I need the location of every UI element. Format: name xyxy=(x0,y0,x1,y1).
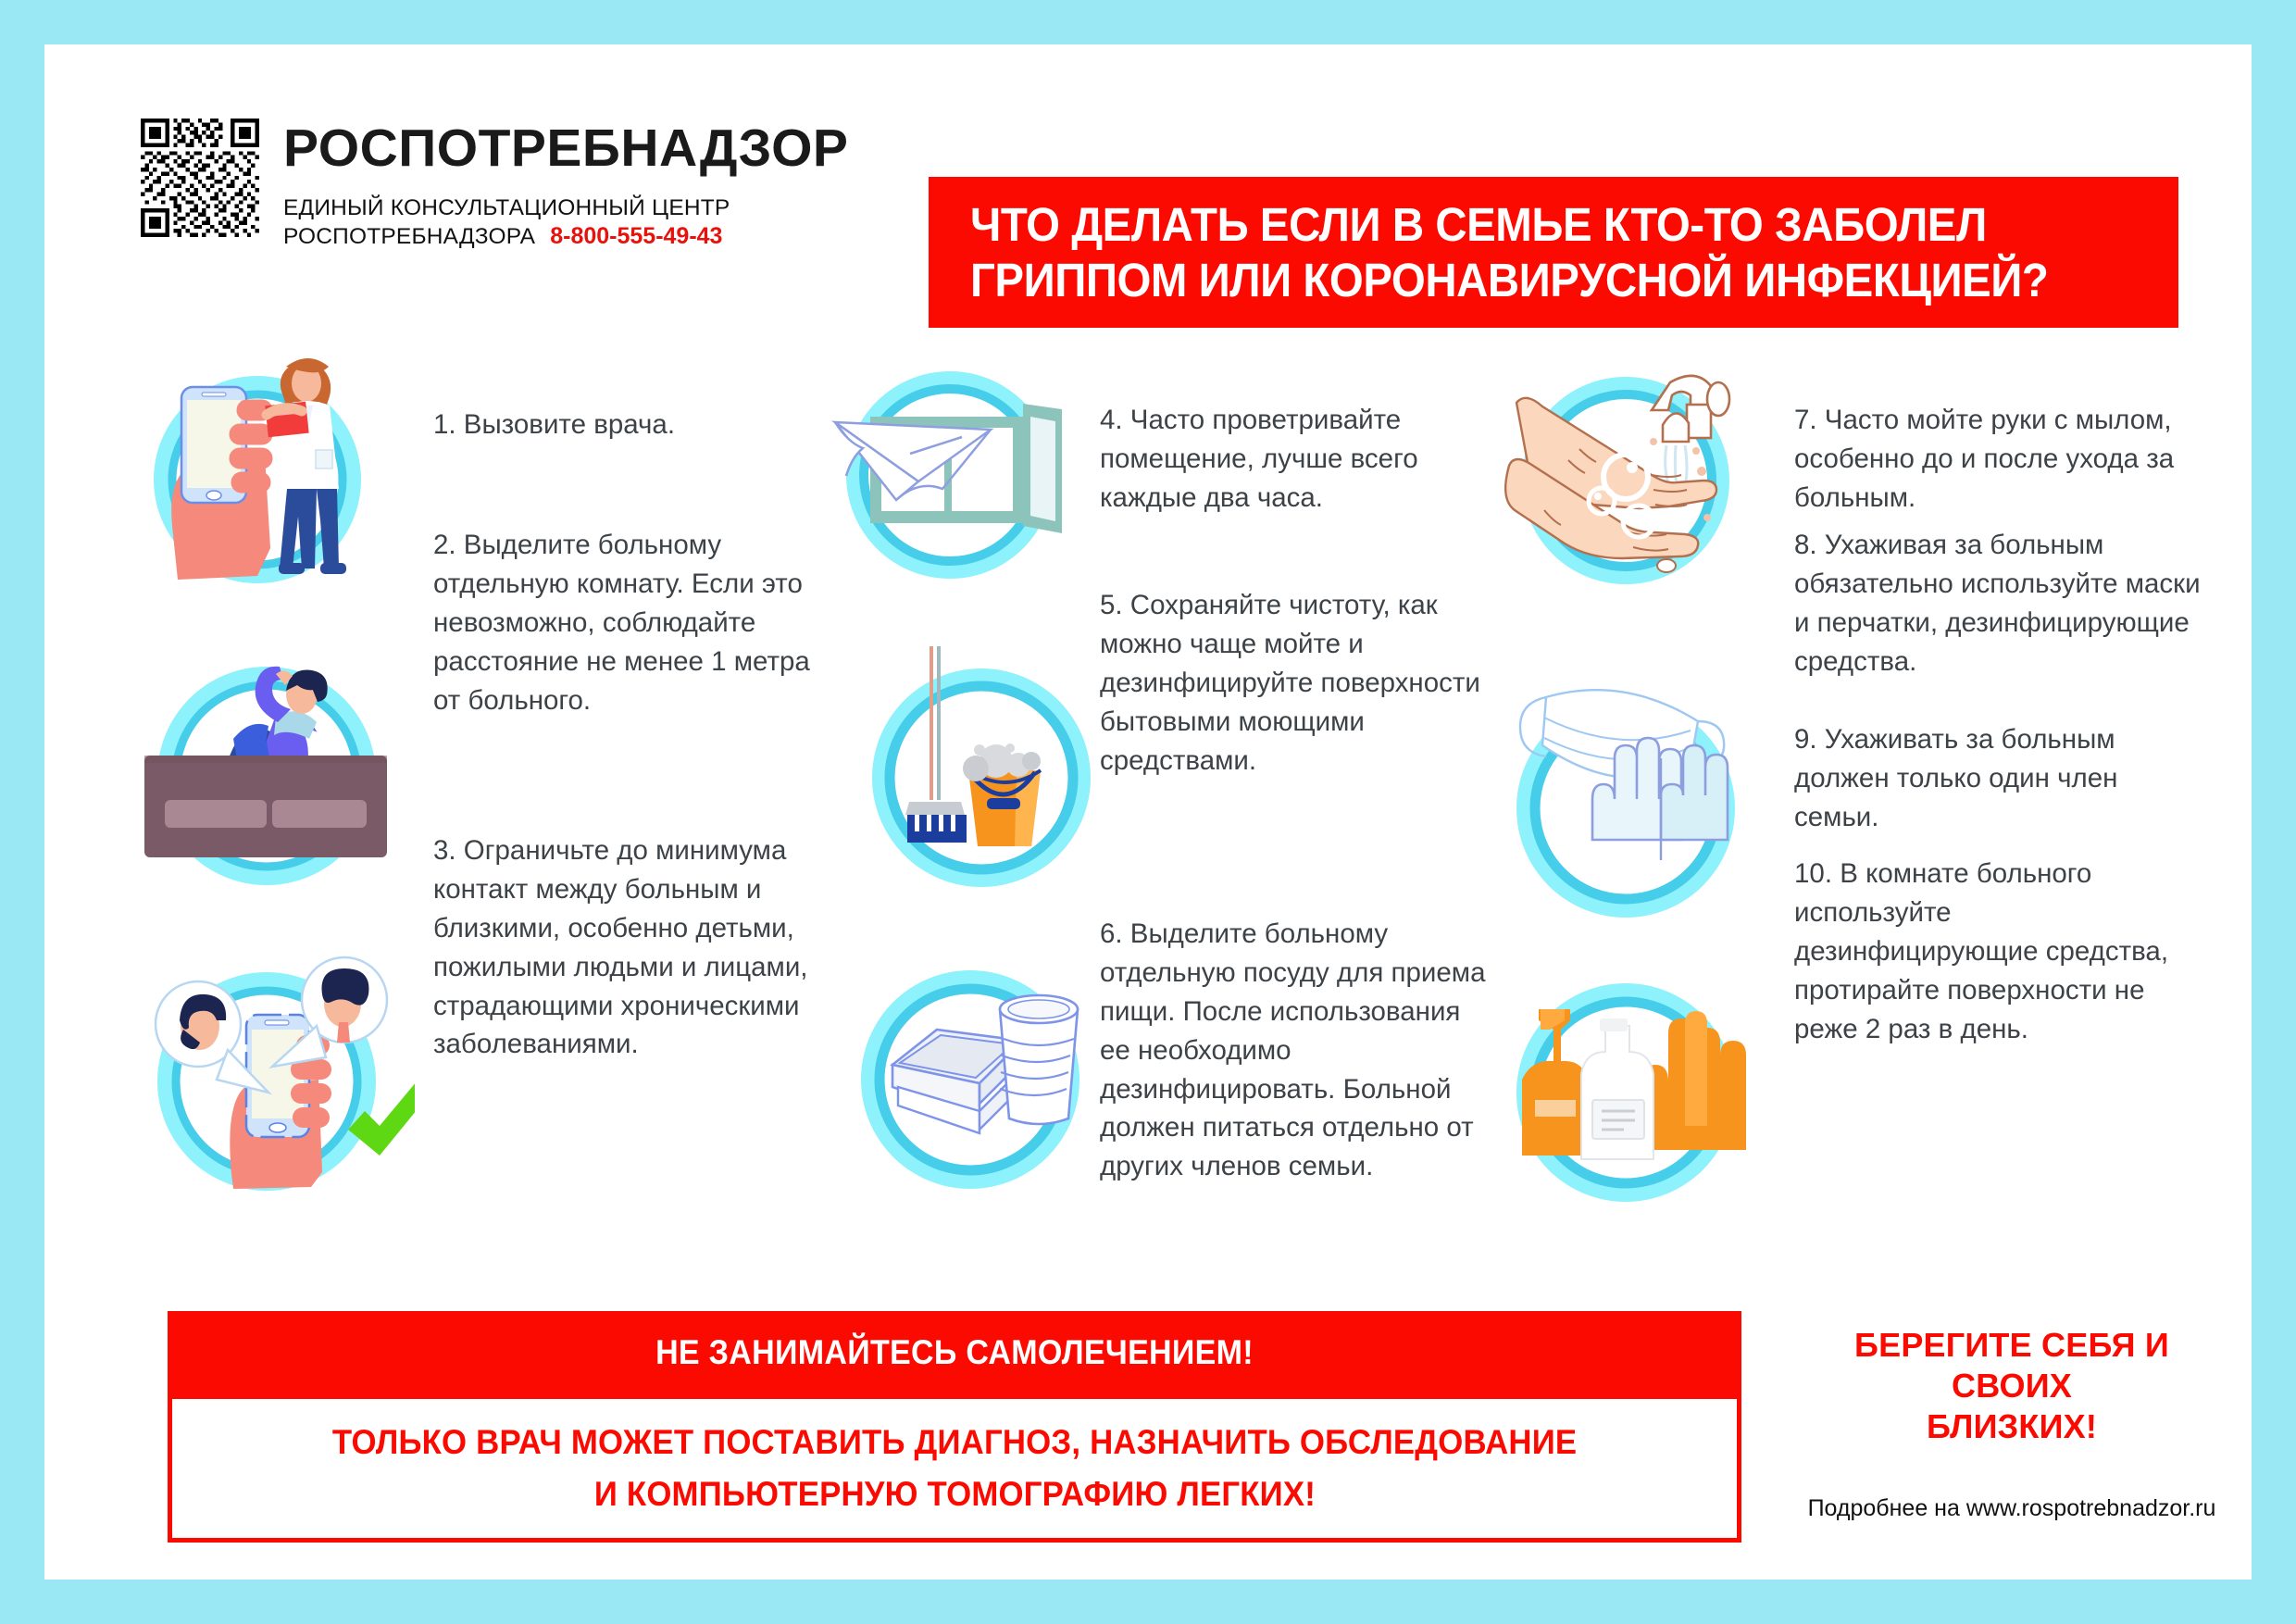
column-1: 1. Вызовите врача. 2. Выделите больному … xyxy=(137,350,841,1276)
logo-text-block: РОСПОТРЕБНАДЗОР ЕДИНЫЙ КОНСУЛЬТАЦИОННЫЙ … xyxy=(283,119,848,252)
website-link[interactable]: Подробнее на www.rospotrebnadzor.ru xyxy=(1794,1495,2229,1522)
doctor-notice-box: ТОЛЬКО ВРАЧ МОЖЕТ ПОСТАВИТЬ ДИАГНОЗ, НАЗ… xyxy=(168,1394,1741,1543)
poster-canvas: РОСПОТРЕБНАДЗОР ЕДИНЫЙ КОНСУЛЬТАЦИОННЫЙ … xyxy=(44,44,2252,1580)
poster-footer: НЕ ЗАНИМАЙТЕСЬ САМОЛЕЧЕНИЕМ! ТОЛЬКО ВРАЧ… xyxy=(44,1274,2252,1580)
take-care-line1: БЕРЕГИТЕ СЕБЯ И СВОИХ xyxy=(1794,1325,2229,1406)
consult-center-line1: ЕДИНЫЙ КОНСУЛЬТАЦИОННЫЙ ЦЕНТР xyxy=(283,194,848,222)
column-2: 4. Часто проветривайте помещение, лучше … xyxy=(841,350,1516,1276)
title-line-1: ЧТО ДЕЛАТЬ ЕСЛИ В СЕМЬЕ КТО-ТО ЗАБОЛЕЛ xyxy=(970,197,2094,252)
handwashing-tap-icon xyxy=(1489,345,1757,614)
phone-doctor-icon xyxy=(137,341,396,600)
step-9-text: 9. Ухаживать за больным должен только од… xyxy=(1794,720,2202,837)
self-treatment-warning-text: НЕ ЗАНИМАЙТЕСЬ САМОЛЕЧЕНИЕМ! xyxy=(655,1333,1254,1372)
doctor-notice-line1: ТОЛЬКО ВРАЧ МОЖЕТ ПОСТАВИТЬ ДИАГНОЗ, НАЗ… xyxy=(332,1423,1577,1462)
column-3: 7. Часто мойте руки с мылом, особенно до… xyxy=(1516,350,2202,1276)
person-on-sofa-icon xyxy=(137,637,396,896)
step-1-text: 1. Вызовите врача. xyxy=(433,406,831,444)
step-3-text: 3. Ограничьте до минимума контакт между … xyxy=(433,831,831,1064)
step-5-text: 5. Сохраняйте чистоту, как можно чаще мо… xyxy=(1100,586,1489,780)
video-call-check-icon xyxy=(137,933,415,1211)
steps-content: 1. Вызовите врача. 2. Выделите больному … xyxy=(44,350,2252,1276)
brand-name: РОСПОТРЕБНАДЗОР xyxy=(283,122,848,175)
open-window-airflow-icon xyxy=(822,350,1081,600)
hotline-phone[interactable]: 8-800-555-49-43 xyxy=(550,223,722,250)
disposable-tableware-icon xyxy=(831,952,1109,1220)
title-banner: ЧТО ДЕЛАТЬ ЕСЛИ В СЕМЬЕ КТО-ТО ЗАБОЛЕЛ Г… xyxy=(929,177,2178,328)
mask-and-gloves-icon xyxy=(1489,669,1757,938)
step-10-text: 10. В комнате больного используйте дезин… xyxy=(1794,855,2202,1048)
self-treatment-warning-banner: НЕ ЗАНИМАЙТЕСЬ САМОЛЕЧЕНИЕМ! xyxy=(168,1311,1741,1394)
mop-and-bucket-icon xyxy=(859,646,1109,906)
consult-center-line2: РОСПОТРЕБНАДЗОРА xyxy=(283,222,535,251)
poster-header: РОСПОТРЕБНАДЗОР ЕДИНЫЙ КОНСУЛЬТАЦИОННЫЙ … xyxy=(44,44,2252,285)
step-2-text: 2. Выделите больному отдельную комнату. … xyxy=(433,526,831,719)
step-7-text: 7. Часто мойте руки с мылом, особенно до… xyxy=(1794,401,2202,518)
disinfectant-bottles-gloves-icon xyxy=(1489,961,1766,1230)
step-4-text: 4. Часто проветривайте помещение, лучше … xyxy=(1100,401,1489,518)
step-6-text: 6. Выделите больному отдельную посуду дл… xyxy=(1100,915,1489,1186)
qr-code-icon xyxy=(141,119,259,237)
take-care-block: БЕРЕГИТЕ СЕБЯ И СВОИХ БЛИЗКИХ! Подробнее… xyxy=(1794,1325,2229,1522)
step-8-text: 8. Ухаживая за больным обязательно испол… xyxy=(1794,526,2202,681)
take-care-line2: БЛИЗКИХ! xyxy=(1794,1406,2229,1447)
doctor-notice-line2: И КОМПЬЮТЕРНУЮ ТОМОГРАФИЮ ЛЕГКИХ! xyxy=(593,1475,1315,1514)
logo-block: РОСПОТРЕБНАДЗОР ЕДИНЫЙ КОНСУЛЬТАЦИОННЫЙ … xyxy=(141,119,848,252)
title-line-2: ГРИППОМ ИЛИ КОРОНАВИРУСНОЙ ИНФЕКЦИЕЙ? xyxy=(970,253,2094,307)
